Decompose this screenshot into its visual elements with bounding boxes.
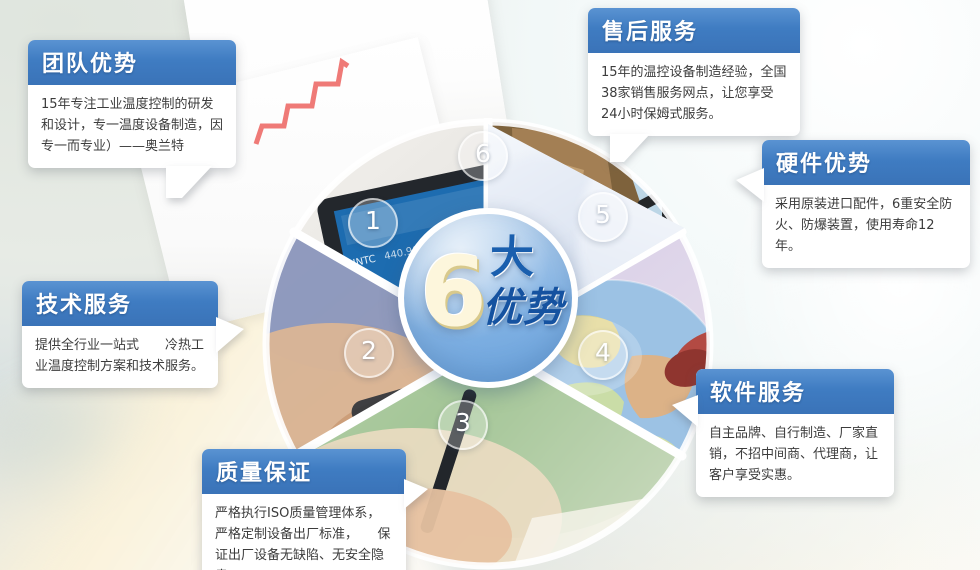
badge-number-4: 4 <box>578 330 628 380</box>
card-team-advantage[interactable]: 团队优势 15年专注工业温度控制的研发和设计，专一温度设备制造，因专一而专业）—… <box>28 40 236 168</box>
card-quality-tail <box>404 479 428 509</box>
card-team-title: 团队优势 <box>28 40 236 85</box>
center-suffix: 优势 <box>482 288 564 328</box>
badge-number-5: 5 <box>578 192 628 242</box>
card-software-service[interactable]: 软件服务 自主品牌、自行制造、厂家直销，不招中间商、代理商，让客户享受实惠。 <box>696 369 894 497</box>
card-software-tail <box>672 395 698 427</box>
card-quality-assurance[interactable]: 质量保证 严格执行ISO质量管理体系，严格定制设备出厂标准， 保证出厂设备无缺陷… <box>202 449 406 570</box>
card-after-sales-body: 15年的温控设备制造经验，全国38家销售服务网点，让您享受24小时保姆式服务。 <box>588 53 800 136</box>
card-after-sales-title: 售后服务 <box>588 8 800 53</box>
badge-number-3: 3 <box>438 400 488 450</box>
card-quality-title: 质量保证 <box>202 449 406 494</box>
card-team-tail <box>166 166 212 198</box>
center-big-char: 大 <box>490 236 534 280</box>
badge-number-6: 6 <box>458 131 508 181</box>
card-after-sales-tail <box>610 134 650 162</box>
card-technical-title: 技术服务 <box>22 281 218 326</box>
card-hardware-body: 采用原装进口配件，6重安全防火、防爆装置，使用寿命12年。 <box>762 185 970 268</box>
badge-number-1: 1 <box>348 198 398 248</box>
card-hardware-tail <box>736 168 764 202</box>
badge-number-2: 2 <box>344 328 394 378</box>
card-software-title: 软件服务 <box>696 369 894 414</box>
card-quality-body: 严格执行ISO质量管理体系，严格定制设备出厂标准， 保证出厂设备无缺陷、无安全隐… <box>202 494 406 570</box>
card-after-sales[interactable]: 售后服务 15年的温控设备制造经验，全国38家销售服务网点，让您享受24小时保姆… <box>588 8 800 136</box>
card-hardware-title: 硬件优势 <box>762 140 970 185</box>
card-technical-tail <box>216 317 244 353</box>
card-hardware-advantage[interactable]: 硬件优势 采用原装进口配件，6重安全防火、防爆装置，使用寿命12年。 <box>762 140 970 268</box>
infographic-canvas: INTC 440.96 <box>0 0 980 570</box>
card-technical-body: 提供全行业一站式 冷热工业温度控制方案和技术服务。 <box>22 326 218 388</box>
card-team-body: 15年专注工业温度控制的研发和设计，专一温度设备制造，因专一而专业）——奥兰特 <box>28 85 236 168</box>
center-badge: 6 大 优势 <box>398 208 578 388</box>
card-software-body: 自主品牌、自行制造、厂家直销，不招中间商、代理商，让客户享受实惠。 <box>696 414 894 497</box>
card-technical-service[interactable]: 技术服务 提供全行业一站式 冷热工业温度控制方案和技术服务。 <box>22 281 218 388</box>
center-number: 6 <box>420 244 487 340</box>
